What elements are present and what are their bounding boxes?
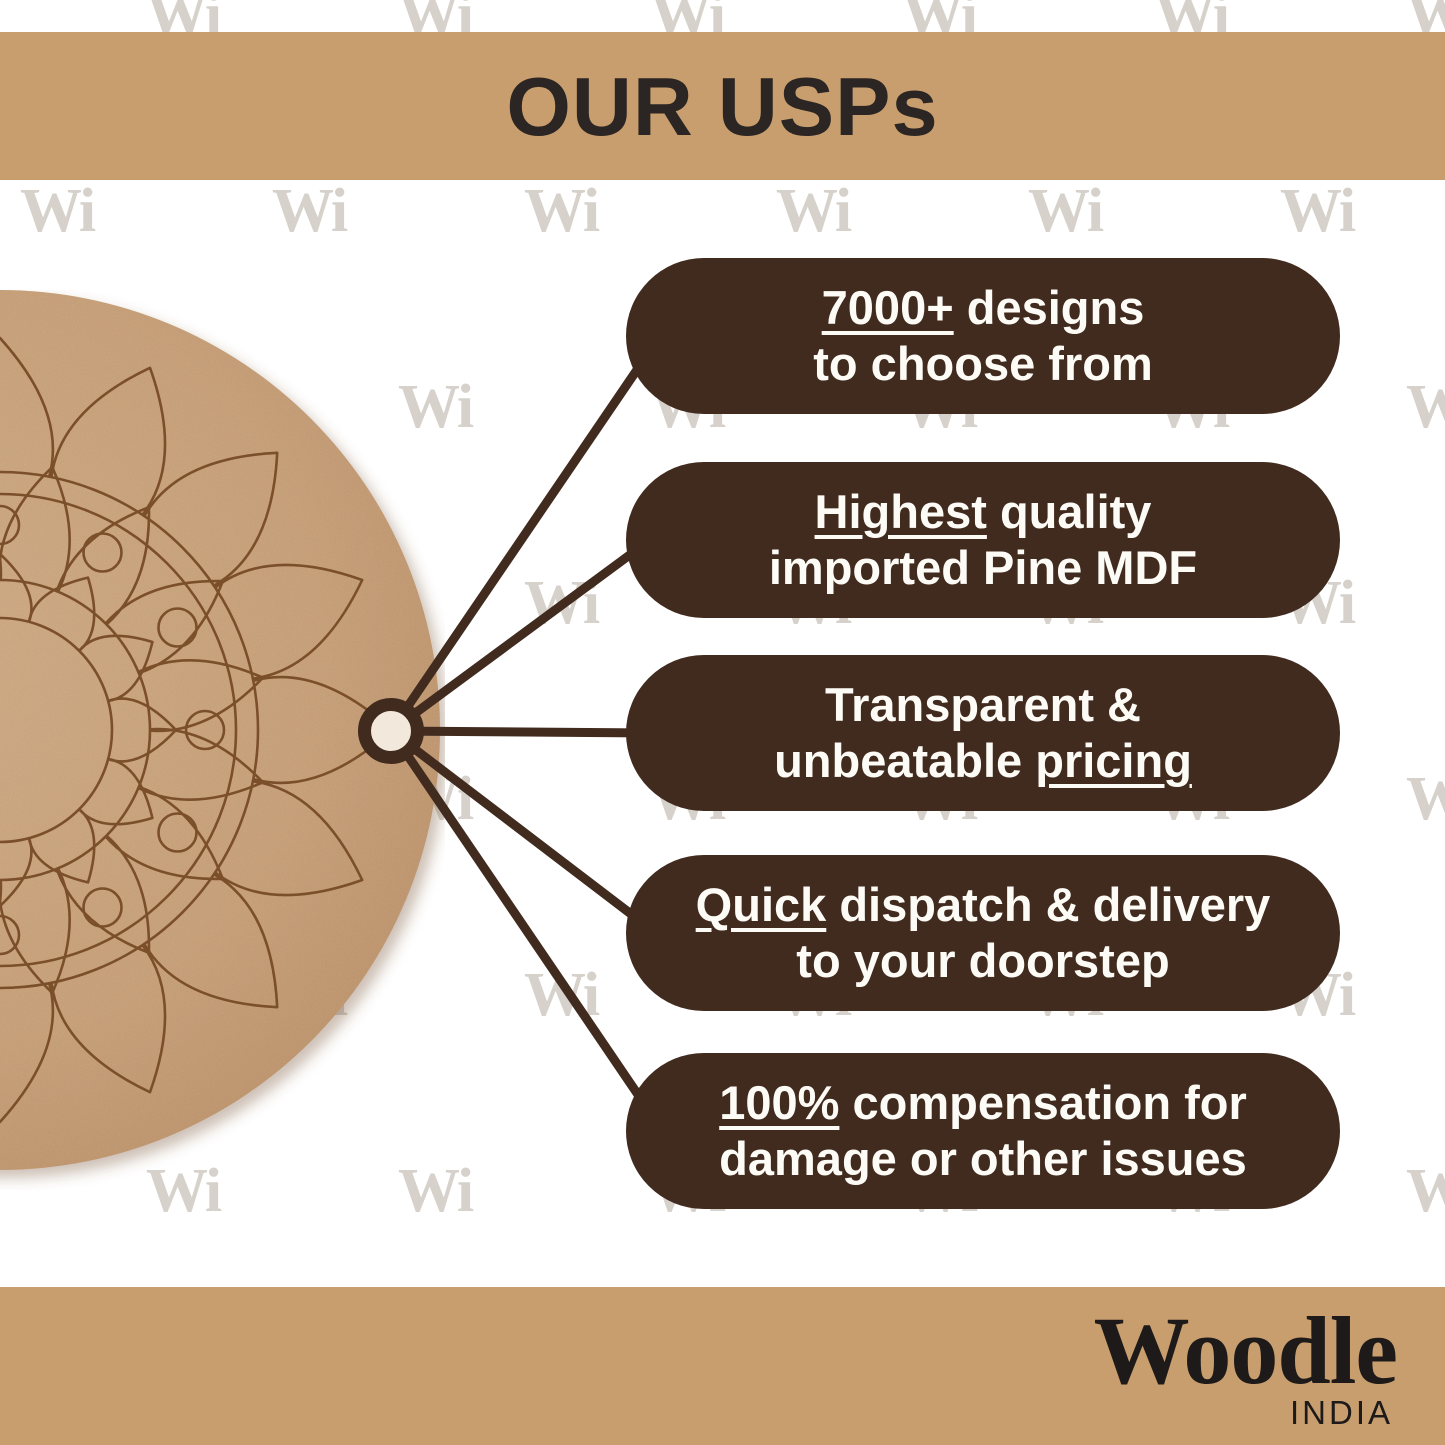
- usp-pill-pricing[interactable]: Transparent &unbeatable pricing: [626, 655, 1340, 811]
- usp-text-line-2: unbeatable pricing: [774, 733, 1192, 789]
- usp-text-line-2: damage or other issues: [719, 1131, 1247, 1187]
- usp-highlight: 100%: [719, 1076, 839, 1129]
- usp-highlight: pricing: [1035, 734, 1192, 787]
- hub-node: [358, 698, 424, 764]
- usp-highlight: 7000+: [822, 281, 954, 334]
- usp-text-line-1: Transparent &: [825, 677, 1141, 733]
- usp-pill-quality[interactable]: Highest qualityimported Pine MDF: [626, 462, 1340, 618]
- usp-text-line-2: to choose from: [813, 336, 1152, 392]
- brand-logo: Woodle INDIA: [1094, 1301, 1397, 1429]
- usp-pill-dispatch[interactable]: Quick dispatch & deliveryto your doorste…: [626, 855, 1340, 1011]
- usp-text-line-1: Quick dispatch & delivery: [696, 877, 1271, 933]
- usp-highlight: Quick: [696, 878, 827, 931]
- usp-text-line-1: 7000+ designs: [822, 280, 1145, 336]
- usp-text-line-1: Highest quality: [815, 484, 1152, 540]
- usp-text-line-2: imported Pine MDF: [769, 540, 1197, 596]
- brand-name: Woodle: [1094, 1301, 1397, 1402]
- infographic-canvas: WiWiWiWiWiWiWiWiWiWiWiWiWiWiWiWiWiWiWiWi…: [0, 0, 1445, 1445]
- usp-highlight: Highest: [815, 485, 987, 538]
- header-banner: OUR USPs: [0, 32, 1445, 180]
- usp-list: 7000+ designsto choose fromHighest quali…: [0, 0, 1445, 1445]
- usp-text-line-2: to your doorstep: [796, 933, 1169, 989]
- footer-banner: Woodle INDIA: [0, 1287, 1445, 1445]
- usp-pill-compensation[interactable]: 100% compensation fordamage or other iss…: [626, 1053, 1340, 1209]
- usp-pill-designs[interactable]: 7000+ designsto choose from: [626, 258, 1340, 414]
- usp-text-line-1: 100% compensation for: [719, 1075, 1247, 1131]
- page-title: OUR USPs: [506, 65, 938, 148]
